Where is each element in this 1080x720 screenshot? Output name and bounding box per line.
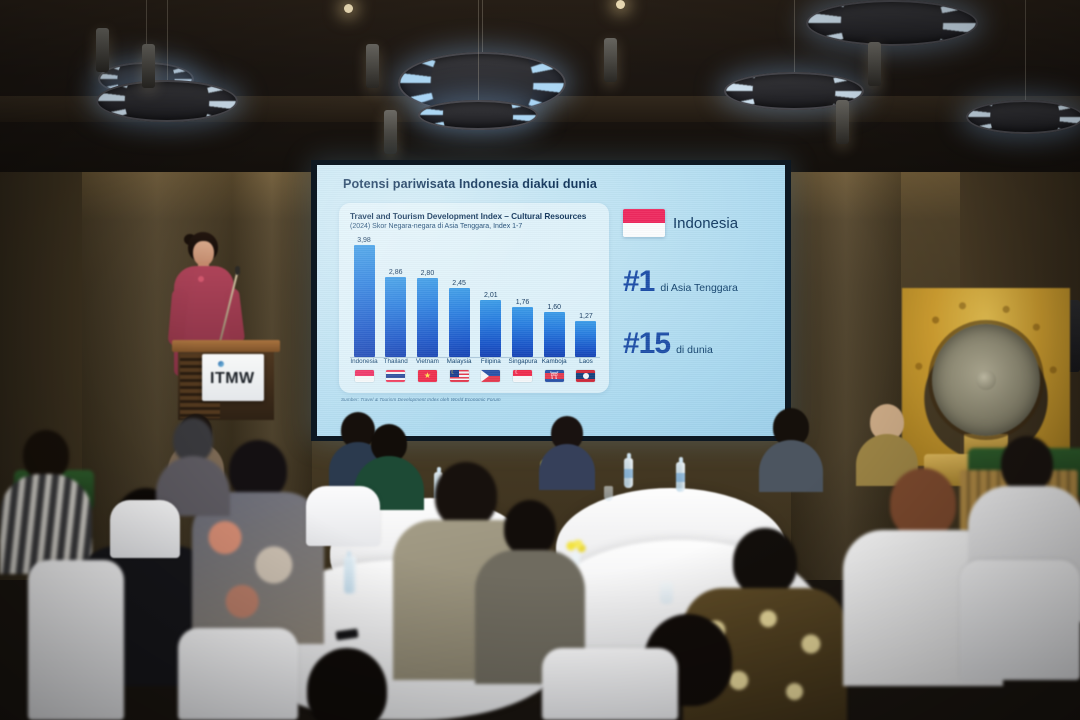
bar-value-label: 2,01 — [484, 292, 498, 299]
thailand-flag-icon — [386, 370, 405, 382]
bar-value-label: 1,76 — [516, 299, 530, 306]
pendant-cord — [478, 0, 479, 100]
chart-header: Travel and Tourism Development Index – C… — [350, 211, 601, 230]
audience-head — [890, 468, 956, 538]
pendant-light — [806, 0, 978, 46]
gong-boss — [976, 370, 996, 390]
bar-thailand — [385, 277, 406, 357]
pendant-cord — [1025, 0, 1026, 100]
downlight — [366, 44, 379, 88]
drinking-glass — [660, 582, 673, 604]
drinking-glass — [604, 486, 613, 501]
downlight — [96, 28, 109, 72]
downlight — [142, 44, 155, 88]
bar-value-label: 2,45 — [452, 280, 466, 287]
gong-disc — [932, 324, 1040, 436]
regional-rank-text: di Asia Tenggara — [660, 282, 737, 294]
audience-head — [504, 500, 556, 556]
country-name: Indonesia — [673, 215, 738, 232]
category-label: Thailand — [382, 359, 410, 365]
bar-column: 2,01 — [477, 237, 505, 357]
bar-kamboja — [544, 312, 565, 357]
ranking-info-panel: Indonesia #1 di Asia Tenggara #15 di dun… — [623, 209, 781, 359]
ceiling-spot — [616, 0, 625, 9]
chart-source-note: Sumber: Travel & Tourism Development Ind… — [341, 397, 501, 402]
category-label: Vietnam — [413, 359, 441, 365]
regional-rank-row: #1 di Asia Tenggara — [623, 267, 781, 297]
pendant-cord — [794, 0, 795, 72]
flag-row — [350, 370, 600, 382]
pendant-bulbs — [968, 102, 1080, 132]
conference-room-scene: Potensi pariwisata Indonesia diakui duni… — [0, 0, 1080, 720]
bar-filipina — [480, 300, 501, 357]
vietnam-flag-icon — [418, 370, 437, 382]
audience-head — [23, 430, 69, 480]
presentation-slide: Potensi pariwisata Indonesia diakui duni… — [317, 165, 785, 436]
bar-value-label: 2,80 — [421, 270, 435, 277]
bar-chart-plot: 3,98 2,86 2,80 2,45 — [350, 237, 600, 357]
chair-back — [960, 560, 1080, 680]
audience-torso — [539, 444, 595, 490]
bar-value-label: 1,27 — [579, 313, 593, 320]
pendant-bulbs — [808, 2, 976, 44]
category-label: Laos — [572, 359, 600, 365]
indonesia-flag-icon — [355, 370, 374, 382]
audience-member — [4, 430, 88, 570]
downlight — [868, 42, 881, 86]
audience-torso — [0, 474, 92, 574]
flag-cell — [382, 370, 410, 382]
indonesia-flag-icon — [623, 209, 665, 237]
category-labels: Indonesia Thailand Vietnam Malaysia Fili… — [350, 359, 600, 365]
podium-sign-logo: ITMW — [210, 371, 255, 387]
audience-member — [540, 416, 594, 486]
audience-torso — [759, 440, 823, 492]
flag-cell — [540, 370, 568, 382]
podium-sign: ITMW — [202, 354, 264, 401]
chart-card: Travel and Tourism Development Index – C… — [339, 203, 609, 393]
bar-column: 2,86 — [382, 237, 410, 357]
category-label: Malaysia — [445, 359, 473, 365]
regional-rank-number: #1 — [623, 267, 654, 297]
cambodia-flag-icon — [545, 370, 564, 382]
flag-cell — [445, 370, 473, 382]
water-bottle — [624, 458, 633, 488]
category-label: Filipina — [477, 359, 505, 365]
bar-value-label: 1,60 — [547, 304, 561, 311]
pendant-light — [96, 80, 238, 122]
water-bottle — [676, 462, 685, 492]
philippines-flag-icon — [481, 370, 500, 382]
bar-column: 1,60 — [540, 237, 568, 357]
audience-head — [733, 528, 797, 596]
flag-cell — [509, 370, 537, 382]
bar-value-label: 3,98 — [357, 237, 371, 244]
bar-column: 3,98 — [350, 237, 378, 357]
malaysia-flag-icon — [450, 370, 469, 382]
country-row: Indonesia — [623, 209, 781, 237]
chair-back — [28, 560, 124, 720]
bar-laos — [575, 321, 596, 357]
bar-column: 2,80 — [413, 237, 441, 357]
global-rank-text: di dunia — [676, 344, 713, 356]
audience-head — [307, 648, 387, 720]
downlight — [384, 110, 397, 154]
pendant-cord — [167, 0, 168, 80]
chart-subtitle: (2024) Skor Negara-negara di Asia Tengga… — [350, 223, 601, 230]
category-label: Singapura — [509, 359, 537, 365]
audience-member — [158, 418, 228, 508]
microphone-head — [235, 266, 240, 275]
bar-column: 1,27 — [572, 237, 600, 357]
slide-title: Potensi pariwisata Indonesia diakui duni… — [343, 177, 597, 191]
singapore-flag-icon — [513, 370, 532, 382]
bar-vietnam — [417, 278, 438, 357]
bar-indonesia — [354, 245, 375, 357]
flag-cell — [477, 370, 505, 382]
chair-back — [306, 486, 380, 546]
bar-malaysia — [449, 288, 470, 357]
pendant-light — [418, 100, 538, 130]
pendant-bulbs — [420, 102, 536, 128]
pendant-light — [966, 100, 1080, 134]
podium: ITMW — [172, 340, 280, 420]
audience-member — [760, 408, 822, 488]
flag-cell — [413, 370, 441, 382]
ceiling-spot — [344, 4, 353, 13]
chair-back — [110, 500, 180, 558]
flag-cell — [572, 370, 600, 382]
chair-back — [542, 648, 678, 720]
chair-back — [178, 628, 298, 720]
bar-column: 1,76 — [509, 237, 537, 357]
global-rank-row: #15 di dunia — [623, 329, 781, 359]
downlight — [836, 100, 849, 144]
downlight — [604, 38, 617, 82]
bar-column: 2,45 — [445, 237, 473, 357]
presenter-brooch — [198, 276, 204, 282]
projection-screen: Potensi pariwisata Indonesia diakui duni… — [311, 160, 791, 441]
laos-flag-icon — [576, 370, 595, 382]
global-rank-number: #15 — [623, 329, 670, 359]
pendant-cord — [482, 0, 483, 52]
bar-singapura — [512, 307, 533, 357]
flag-cell — [350, 370, 378, 382]
audience-head — [1001, 436, 1053, 492]
chart-title: Travel and Tourism Development Index – C… — [350, 211, 601, 221]
event-logo-mark-icon — [218, 361, 224, 367]
audience-head — [229, 440, 287, 500]
category-label: Kamboja — [540, 359, 568, 365]
pendant-bulbs — [98, 82, 236, 120]
category-label: Indonesia — [350, 359, 378, 365]
bar-value-label: 2,86 — [389, 269, 403, 276]
podium-top — [172, 340, 280, 352]
water-bottle — [344, 556, 356, 594]
